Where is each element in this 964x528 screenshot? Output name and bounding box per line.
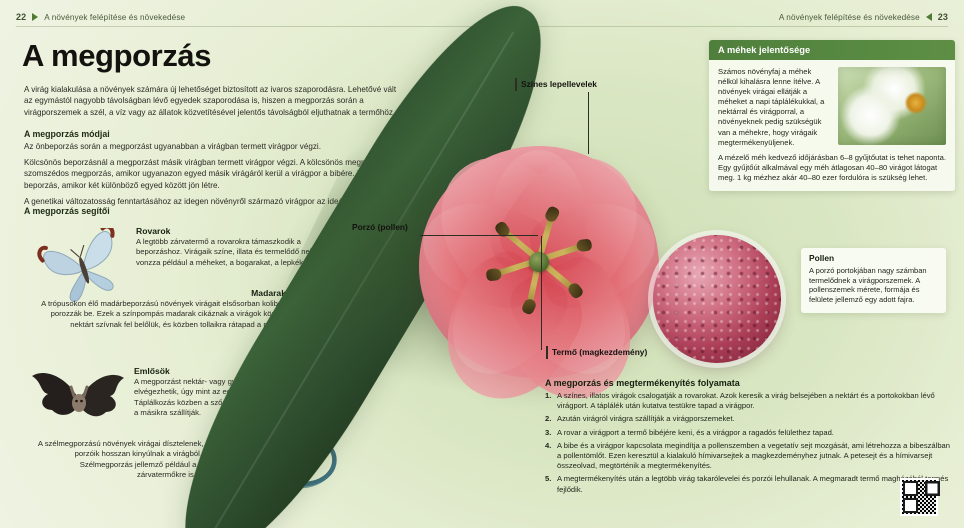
page-title: A megporzás — [22, 38, 211, 74]
process-text-5: A megtermékenyítés után a legtöbb virág … — [557, 474, 948, 493]
methods-paragraph-1: Az önbeporzás során a megporzást ugyanab… — [24, 141, 406, 152]
leader-line-pistil — [541, 236, 542, 350]
callout-pistil-label: Termő (magkezdemény) — [552, 347, 647, 357]
bee-photo — [838, 67, 946, 145]
page-number-right: 23 — [938, 12, 948, 22]
pistil — [529, 252, 549, 272]
textbook-spread: 22 A növények felépítése és növekedése A… — [0, 0, 964, 528]
process-text-4: A bibe és a virágpor kapcsolata megindít… — [557, 441, 950, 470]
process-text-2: Azután virágról virágra szállítják a vir… — [557, 414, 735, 423]
methods-heading: A megporzás módjai — [24, 129, 406, 139]
callout-petals-label: Színes lepellevelek — [521, 79, 597, 89]
header-right: A növények felépítése és növekedése 23 — [779, 9, 948, 25]
helper-rovarok-title: Rovarok — [136, 226, 340, 236]
callout-stamen-label: Porzó (pollen) — [352, 222, 408, 232]
process-text-1: A színes, illatos virágok csalogatják a … — [557, 391, 935, 410]
process-step-4: 4. A bibe és a virágpor kapcsolata megin… — [545, 441, 955, 472]
pollen-box-text: A porzó portokjában nagy számban termelő… — [809, 266, 938, 305]
process-number-1: 1. — [545, 391, 551, 401]
running-head-left: A növények felépítése és növekedése — [44, 13, 185, 22]
helpers-heading: A megporzás segítői — [24, 206, 110, 216]
lead-paragraph: A virág kialakulása a növények számára ú… — [24, 84, 404, 118]
running-head-right: A növények felépítése és növekedése — [779, 13, 920, 22]
process-heading: A megporzás és megtermékenyítés folyamat… — [545, 378, 955, 388]
pollen-callout-box: Pollen A porzó portokjában nagy számban … — [801, 248, 946, 313]
helper-madarak: Madarak A trópusokon élő madárbeporzású … — [36, 288, 286, 330]
pollen-box-title: Pollen — [809, 254, 938, 264]
callout-tick-petals — [515, 78, 517, 91]
bat-illustration — [26, 362, 130, 434]
process-number-4: 4. — [545, 441, 551, 451]
bee-panel-title: A méhek jelentősége — [709, 40, 955, 60]
page-number-left: 22 — [16, 12, 26, 22]
chevron-right-icon — [32, 13, 38, 21]
bee-panel-paragraph-1: Számos növényfaj a méhek nélkül kihalásr… — [718, 67, 830, 148]
bee-panel-body: Számos növényfaj a méhek nélkül kihalásr… — [709, 60, 955, 191]
header-left: 22 A növények felépítése és növekedése — [16, 9, 185, 25]
process-step-3: 3. A rovar a virágport a termő bibéjére … — [545, 428, 955, 438]
leader-line-petals — [588, 92, 589, 154]
callout-pistil: Termő (magkezdemény) — [552, 347, 647, 357]
process-number-3: 3. — [545, 428, 551, 438]
callout-petals: Színes lepellevelek — [521, 79, 597, 89]
helper-madarak-text: A trópusokon élő madárbeporzású növények… — [36, 299, 286, 330]
tulip-flower-illustration — [419, 146, 659, 378]
bee-importance-panel: A méhek jelentősége Számos növényfaj a m… — [709, 40, 955, 191]
process-text-3: A rovar a virágport a termő bibéjére ken… — [557, 428, 834, 437]
process-step-2: 2. Azután virágról virágra szállítják a … — [545, 414, 955, 424]
process-step-1: 1. A színes, illatos virágok csalogatják… — [545, 391, 955, 411]
helper-madarak-title: Madarak — [36, 288, 286, 298]
leader-line-stamen — [420, 235, 538, 236]
chevron-left-icon — [926, 13, 932, 21]
callout-tick-pistil — [546, 346, 548, 359]
process-step-5: 5. A megtermékenyítés után a legtöbb vir… — [545, 474, 955, 494]
process-list: 1. A színes, illatos virágok csalogatják… — [545, 391, 955, 495]
callout-stamen: Porzó (pollen) — [352, 222, 408, 232]
process-section: A megporzás és megtermékenyítés folyamat… — [545, 378, 955, 498]
process-number-2: 2. — [545, 414, 551, 424]
bee-panel-row: Számos növényfaj a méhek nélkül kihalásr… — [718, 67, 946, 148]
bee-panel-paragraph-2: A mézelő méh kedvező időjárásban 6–8 gyű… — [718, 153, 946, 183]
qr-code-icon[interactable] — [900, 478, 938, 516]
process-number-5: 5. — [545, 474, 551, 484]
pollen-micrograph — [653, 235, 781, 363]
